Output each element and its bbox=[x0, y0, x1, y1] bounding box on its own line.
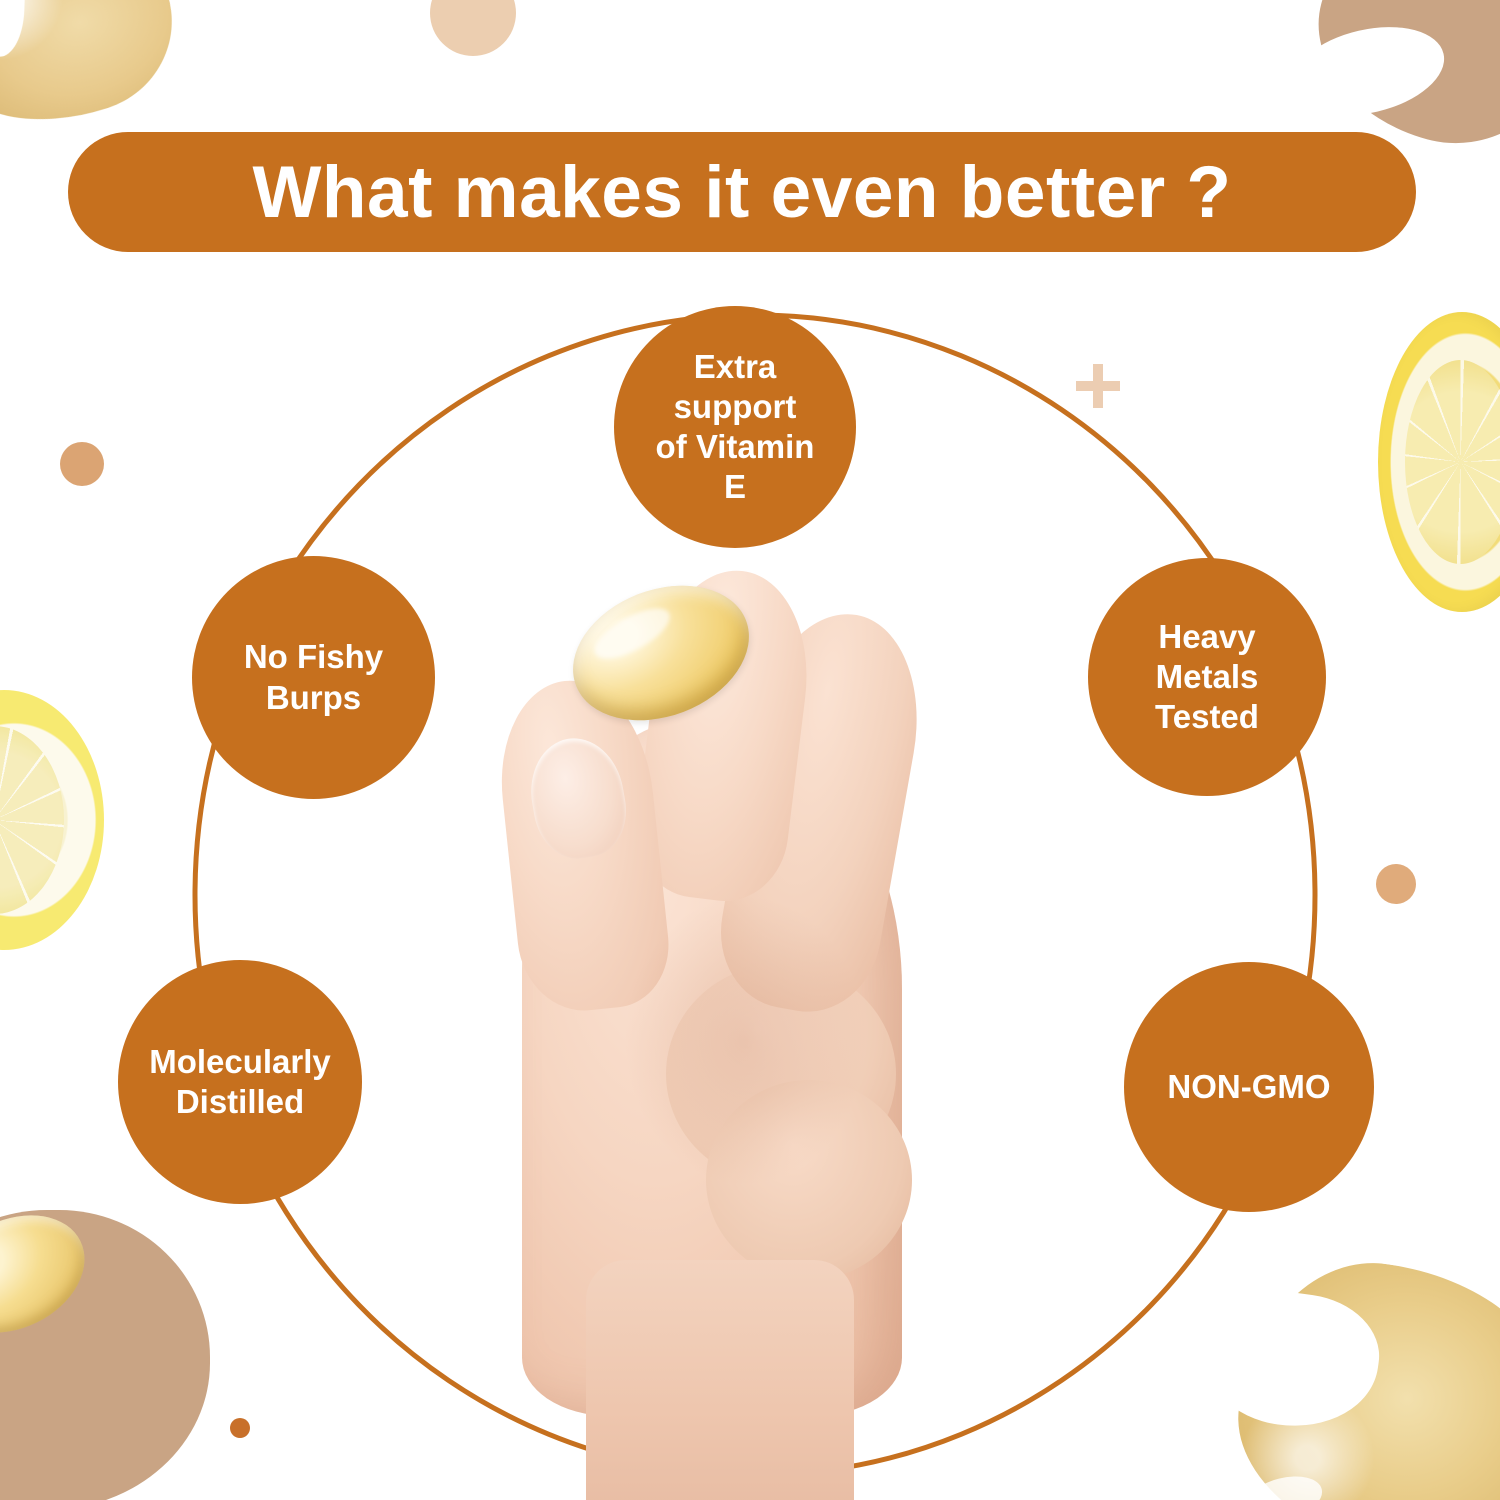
lemon-slice-left-image bbox=[0, 690, 104, 950]
benefit-line-2: Distilled bbox=[135, 1082, 345, 1122]
softgel-capsule-decor-icon bbox=[0, 1193, 104, 1356]
benefit-circle-no-fishy-burps[interactable]: No Fishy Burps bbox=[192, 556, 435, 799]
benefit-line-1: Extra support bbox=[628, 347, 842, 428]
benefit-circle-heavy-metals-tested[interactable]: Heavy Metals Tested bbox=[1088, 558, 1326, 796]
benefit-line-2: Burps bbox=[230, 678, 397, 718]
benefit-circle-molecularly-distilled[interactable]: Molecularly Distilled bbox=[118, 960, 362, 1204]
benefit-line-2: of Vitamin E bbox=[628, 427, 842, 508]
header-banner: What makes it even better ? bbox=[68, 132, 1416, 252]
peach-dot-icon bbox=[430, 0, 516, 56]
hand-holding-capsule-image bbox=[470, 560, 1030, 1500]
benefit-line-1: No Fishy bbox=[230, 637, 397, 677]
page-title: What makes it even better ? bbox=[252, 151, 1231, 234]
benefit-label-non-gmo: NON-GMO bbox=[1139, 1067, 1358, 1107]
infographic-canvas: What makes it even better ? Extra suppor… bbox=[0, 0, 1500, 1500]
benefit-line-1: Heavy Metals bbox=[1102, 617, 1312, 698]
benefit-label-vitamin-e: Extra support of Vitamin E bbox=[614, 347, 856, 508]
benefit-circle-non-gmo[interactable]: NON-GMO bbox=[1124, 962, 1374, 1212]
benefit-label-heavy-metals: Heavy Metals Tested bbox=[1088, 617, 1326, 738]
benefit-label-molecularly-distilled: Molecularly Distilled bbox=[121, 1042, 359, 1123]
lemon-slice-right-image bbox=[1378, 312, 1500, 612]
benefit-line-2: Tested bbox=[1102, 697, 1312, 737]
golden-oil-droplet-icon bbox=[0, 0, 195, 151]
benefit-circle-vitamin-e[interactable]: Extra support of Vitamin E bbox=[614, 306, 856, 548]
palm-shadow bbox=[620, 890, 870, 1190]
benefit-line-1: Molecularly bbox=[135, 1042, 345, 1082]
tan-dot-right-icon bbox=[1376, 864, 1416, 904]
tan-dot-left-icon bbox=[60, 442, 104, 486]
wrist-shape bbox=[586, 1260, 854, 1500]
benefit-line-1: NON-GMO bbox=[1153, 1067, 1344, 1107]
benefit-label-no-fishy-burps: No Fishy Burps bbox=[216, 637, 411, 718]
